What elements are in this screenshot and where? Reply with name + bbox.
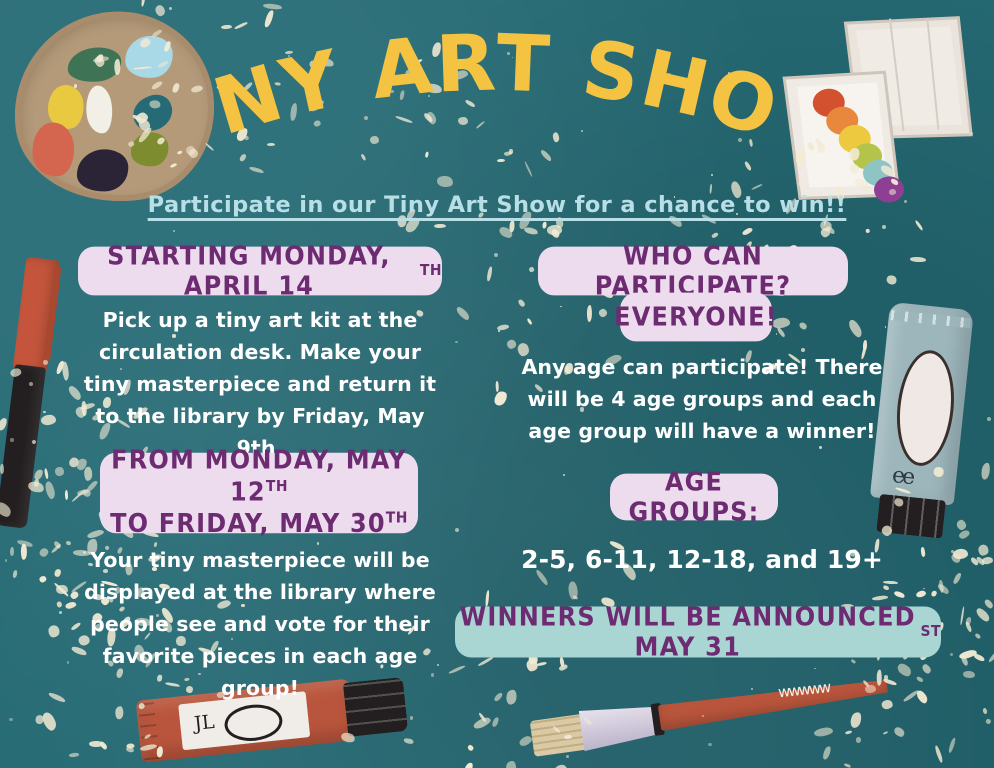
splatter-speck	[974, 633, 981, 640]
splatter-speck	[872, 595, 888, 601]
splatter-dot	[560, 306, 562, 308]
splatter-speck	[64, 490, 68, 501]
splatter-speck	[472, 715, 492, 730]
splatter-dot	[711, 174, 714, 177]
splatter-dot	[5, 559, 7, 561]
splatter-speck	[496, 381, 499, 392]
splatter-speck	[960, 607, 965, 626]
splatter-dot	[923, 588, 925, 590]
splatter-speck	[981, 557, 993, 565]
splatter-dot	[455, 528, 459, 532]
splatter-speck	[914, 220, 924, 232]
heading-starting-date: STARTING MONDAY, APRIL 14TH	[78, 247, 442, 296]
splatter-speck	[509, 220, 515, 232]
splatter-speck	[975, 606, 992, 623]
splatter-speck	[12, 569, 18, 578]
splatter-speck	[844, 730, 852, 735]
banner-winners-announced: WINNERS WILL BE ANNOUNCED MAY 31ST	[455, 607, 941, 658]
splatter-speck	[48, 691, 67, 703]
splatter-speck	[125, 746, 134, 753]
splatter-speck	[949, 552, 962, 565]
brush-ferrule	[578, 698, 660, 754]
splatter-speck	[885, 274, 897, 286]
splatter-speck	[82, 488, 92, 498]
splatter-dot	[173, 230, 176, 233]
splatter-speck	[403, 216, 421, 235]
splatter-speck	[56, 584, 68, 593]
splatter-speck	[741, 227, 753, 237]
splatter-dot	[563, 474, 565, 476]
splatter-speck	[494, 692, 504, 702]
splatter-speck	[76, 489, 88, 497]
splatter-speck	[965, 621, 973, 633]
splatter-speck	[434, 224, 446, 229]
splatter-speck	[478, 712, 487, 723]
heading-who-can-participate: WHO CAN PARTICIPATE?	[538, 247, 848, 296]
heading-display-dates-line2-text: TO FRIDAY, MAY 30	[110, 509, 386, 539]
splatter-speck	[547, 225, 563, 235]
splatter-speck	[819, 227, 830, 238]
splatter-speck	[84, 467, 92, 482]
splatter-speck	[463, 761, 475, 768]
heading-display-dates-line1-ordinal: TH	[266, 478, 288, 495]
splatter-speck	[903, 689, 920, 702]
splatter-speck	[960, 654, 969, 666]
splatter-speck	[54, 568, 63, 577]
splatter-speck	[856, 737, 862, 743]
splatter-speck	[965, 617, 972, 626]
splatter-speck	[568, 580, 579, 599]
splatter-speck	[980, 462, 991, 480]
splatter-speck	[537, 661, 548, 666]
splatter-speck	[506, 339, 516, 350]
splatter-speck	[99, 740, 108, 750]
splatter-speck	[38, 547, 50, 559]
splatter-speck	[550, 227, 561, 238]
paintbrush-illustration: wwwww	[527, 651, 893, 768]
heading-display-dates-line1: FROM MONDAY, MAY 12TH	[100, 446, 418, 509]
splatter-speck	[894, 590, 906, 598]
splatter-speck	[950, 549, 954, 553]
splatter-speck	[263, 3, 282, 10]
splatter-speck	[56, 601, 63, 609]
splatter-speck	[486, 266, 493, 281]
heading-display-dates: FROM MONDAY, MAY 12TH TO FRIDAY, MAY 30T…	[100, 453, 418, 534]
splatter-speck	[491, 716, 499, 727]
splatter-speck	[947, 737, 956, 754]
splatter-speck	[988, 647, 994, 663]
heading-display-dates-line2-ordinal: TH	[386, 510, 408, 527]
splatter-speck	[798, 321, 808, 331]
splatter-speck	[921, 663, 932, 675]
splatter-dot	[950, 653, 953, 656]
banner-winners-ordinal: ST	[920, 624, 941, 641]
splatter-speck	[969, 557, 978, 567]
poster-subtitle: Participate in our Tiny Art Show for a c…	[0, 192, 994, 218]
splatter-speck	[524, 227, 539, 236]
splatter-speck	[751, 183, 762, 190]
splatter-speck	[72, 490, 86, 503]
splatter-dot	[455, 341, 458, 344]
splatter-speck	[847, 318, 864, 339]
poster-title: TINY ART SHOW	[0, 22, 994, 172]
splatter-speck	[978, 544, 989, 555]
splatter-speck	[448, 665, 466, 675]
heading-display-dates-line1-text: FROM MONDAY, MAY 12	[111, 446, 407, 507]
splatter-speck	[825, 225, 836, 235]
splatter-speck	[505, 760, 516, 768]
splatter-speck	[863, 340, 868, 351]
body-display-instructions: Your tiny masterpiece will be displayed …	[74, 545, 446, 705]
splatter-speck	[598, 308, 609, 319]
banner-winners-text: WINNERS WILL BE ANNOUNCED MAY 31	[455, 602, 920, 661]
splatter-speck	[573, 594, 579, 599]
body-age-participation: Any age can participate! There will be 4…	[520, 352, 884, 448]
heading-display-dates-line2: TO FRIDAY, MAY 30TH	[110, 509, 408, 541]
splatter-speck	[711, 232, 719, 239]
splatter-speck	[934, 745, 943, 763]
splatter-speck	[818, 219, 833, 234]
splatter-speck	[467, 744, 474, 751]
splatter-speck	[66, 541, 72, 546]
splatter-dot	[67, 661, 69, 663]
poster-title-text: TINY ART SHOW	[0, 0, 789, 156]
splatter-speck	[821, 746, 831, 761]
body-pickup-instructions: Pick up a tiny art kit at the circulatio…	[74, 305, 446, 465]
splatter-speck	[958, 648, 977, 659]
age-groups-values: 2-5, 6-11, 12-18, and 19+	[520, 540, 884, 579]
splatter-speck	[916, 676, 924, 683]
heading-everyone: EVERYONE!	[620, 293, 772, 342]
splatter-speck	[559, 663, 569, 671]
splatter-speck	[85, 479, 98, 492]
splatter-dot	[9, 718, 13, 722]
splatter-speck	[39, 575, 47, 583]
tube-rust-label-mark: JL	[193, 711, 215, 735]
tube-blue-cap	[876, 494, 946, 539]
splatter-speck	[555, 217, 564, 229]
splatter-dot	[882, 225, 886, 229]
splatter-speck	[17, 539, 34, 548]
splatter-speck	[963, 670, 976, 678]
splatter-speck	[883, 731, 888, 735]
splatter-speck	[517, 298, 526, 307]
splatter-speck	[34, 715, 43, 725]
splatter-speck	[975, 556, 986, 567]
splatter-dot	[987, 417, 991, 421]
splatter-speck	[921, 547, 927, 557]
tube-blue-squiggle: ee	[891, 463, 914, 490]
splatter-speck	[526, 318, 532, 326]
splatter-dot	[776, 333, 778, 335]
brush-bristles	[530, 714, 588, 757]
splatter-speck	[893, 726, 906, 739]
pen-illustration	[0, 255, 80, 530]
splatter-dot	[59, 611, 62, 614]
splatter-dot	[494, 253, 498, 257]
splatter-speck	[69, 753, 79, 758]
splatter-speck	[930, 589, 938, 597]
splatter-speck	[141, 0, 146, 6]
splatter-speck	[498, 225, 515, 240]
splatter-speck	[882, 585, 889, 591]
splatter-speck	[115, 706, 124, 719]
splatter-speck	[50, 543, 60, 553]
splatter-speck	[984, 598, 994, 609]
pen-barrel	[0, 364, 46, 529]
splatter-speck	[953, 548, 969, 560]
splatter-speck	[883, 581, 898, 585]
splatter-speck	[436, 175, 453, 187]
heading-starting-date-ordinal: TH	[420, 263, 442, 280]
brush-handle	[658, 673, 889, 731]
splatter-speck	[953, 572, 963, 585]
splatter-speck	[915, 589, 926, 597]
splatter-speck	[541, 221, 546, 229]
splatter-speck	[52, 541, 61, 550]
heading-starting-date-text: STARTING MONDAY, APRIL 14	[78, 241, 420, 300]
splatter-speck	[41, 711, 59, 733]
splatter-speck	[54, 467, 63, 476]
splatter-speck	[455, 305, 471, 321]
splatter-speck	[48, 625, 59, 638]
splatter-speck	[844, 762, 851, 767]
splatter-speck	[89, 740, 103, 747]
splatter-speck	[915, 689, 930, 705]
splatter-speck	[938, 580, 944, 593]
splatter-speck	[53, 582, 69, 597]
splatter-speck	[586, 305, 591, 322]
splatter-speck	[983, 707, 989, 714]
splatter-speck	[10, 546, 14, 555]
splatter-speck	[936, 582, 950, 594]
splatter-speck	[909, 257, 925, 262]
splatter-speck	[973, 653, 986, 663]
splatter-dot	[498, 330, 500, 332]
splatter-speck	[87, 528, 105, 539]
splatter-speck	[492, 389, 509, 407]
splatter-speck	[126, 743, 134, 748]
splatter-speck	[505, 688, 517, 705]
splatter-speck	[529, 267, 536, 273]
splatter-speck	[21, 544, 27, 560]
tiny-art-show-poster: ee JL wwwww TINY ART SHOW Participate in	[0, 0, 994, 768]
splatter-speck	[496, 324, 508, 331]
splatter-speck	[865, 229, 869, 234]
splatter-speck	[984, 718, 991, 725]
splatter-speck	[896, 661, 914, 678]
heading-age-groups: AGE GROUPS:	[610, 474, 778, 521]
poster-title-svg: TINY ART SHOW	[0, 22, 994, 172]
